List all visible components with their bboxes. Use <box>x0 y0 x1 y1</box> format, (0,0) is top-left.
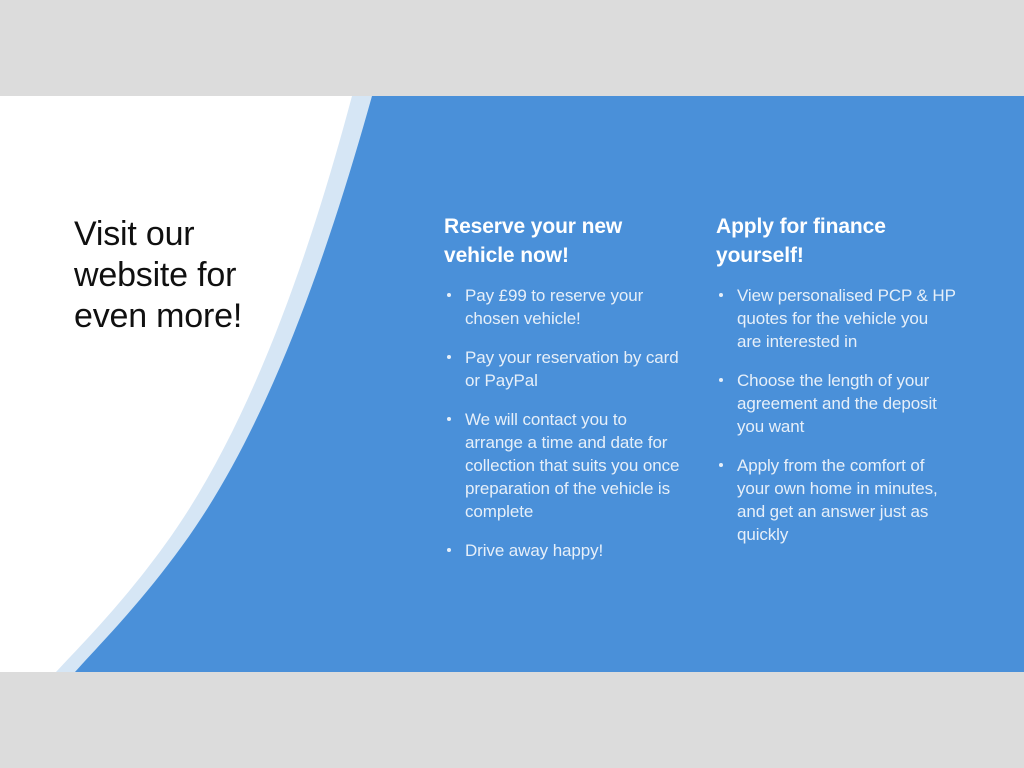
list-item-text: We will contact you to arrange a time an… <box>465 410 679 521</box>
letterbox-bar-top <box>0 0 1024 96</box>
column-apply-finance: Apply for finance yourself! View persona… <box>716 212 956 546</box>
bullet-list-reserve-vehicle: Pay £99 to reserve your chosen vehicle! … <box>444 284 684 562</box>
list-item-text: Choose the length of your agreement and … <box>737 371 937 436</box>
bullet-dot-icon <box>447 548 451 552</box>
bullet-dot-icon <box>719 463 723 467</box>
screen: Visit our website for even more! Reserve… <box>0 0 1024 768</box>
letterbox-bar-bottom <box>0 672 1024 768</box>
list-item: Apply from the comfort of your own home … <box>716 454 956 546</box>
bullet-dot-icon <box>447 355 451 359</box>
list-item: Choose the length of your agreement and … <box>716 369 956 438</box>
column-heading-apply-finance: Apply for finance yourself! <box>716 212 956 270</box>
content-columns: Reserve your new vehicle now! Pay £99 to… <box>444 212 984 562</box>
list-item-text: View personalised PCP & HP quotes for th… <box>737 286 956 351</box>
bullet-dot-icon <box>719 293 723 297</box>
page-title: Visit our website for even more! <box>74 214 324 337</box>
bullet-dot-icon <box>719 378 723 382</box>
column-reserve-vehicle: Reserve your new vehicle now! Pay £99 to… <box>444 212 684 562</box>
list-item-text: Drive away happy! <box>465 541 603 560</box>
column-heading-reserve-vehicle: Reserve your new vehicle now! <box>444 212 684 270</box>
list-item: Pay your reservation by card or PayPal <box>444 346 684 392</box>
list-item-text: Pay your reservation by card or PayPal <box>465 348 679 390</box>
slide-canvas: Visit our website for even more! Reserve… <box>0 96 1024 672</box>
list-item: Pay £99 to reserve your chosen vehicle! <box>444 284 684 330</box>
list-item: View personalised PCP & HP quotes for th… <box>716 284 956 353</box>
list-item: Drive away happy! <box>444 539 684 562</box>
bullet-dot-icon <box>447 417 451 421</box>
list-item-text: Pay £99 to reserve your chosen vehicle! <box>465 286 643 328</box>
list-item-text: Apply from the comfort of your own home … <box>737 456 938 544</box>
bullet-dot-icon <box>447 293 451 297</box>
bullet-list-apply-finance: View personalised PCP & HP quotes for th… <box>716 284 956 546</box>
list-item: We will contact you to arrange a time an… <box>444 408 684 523</box>
